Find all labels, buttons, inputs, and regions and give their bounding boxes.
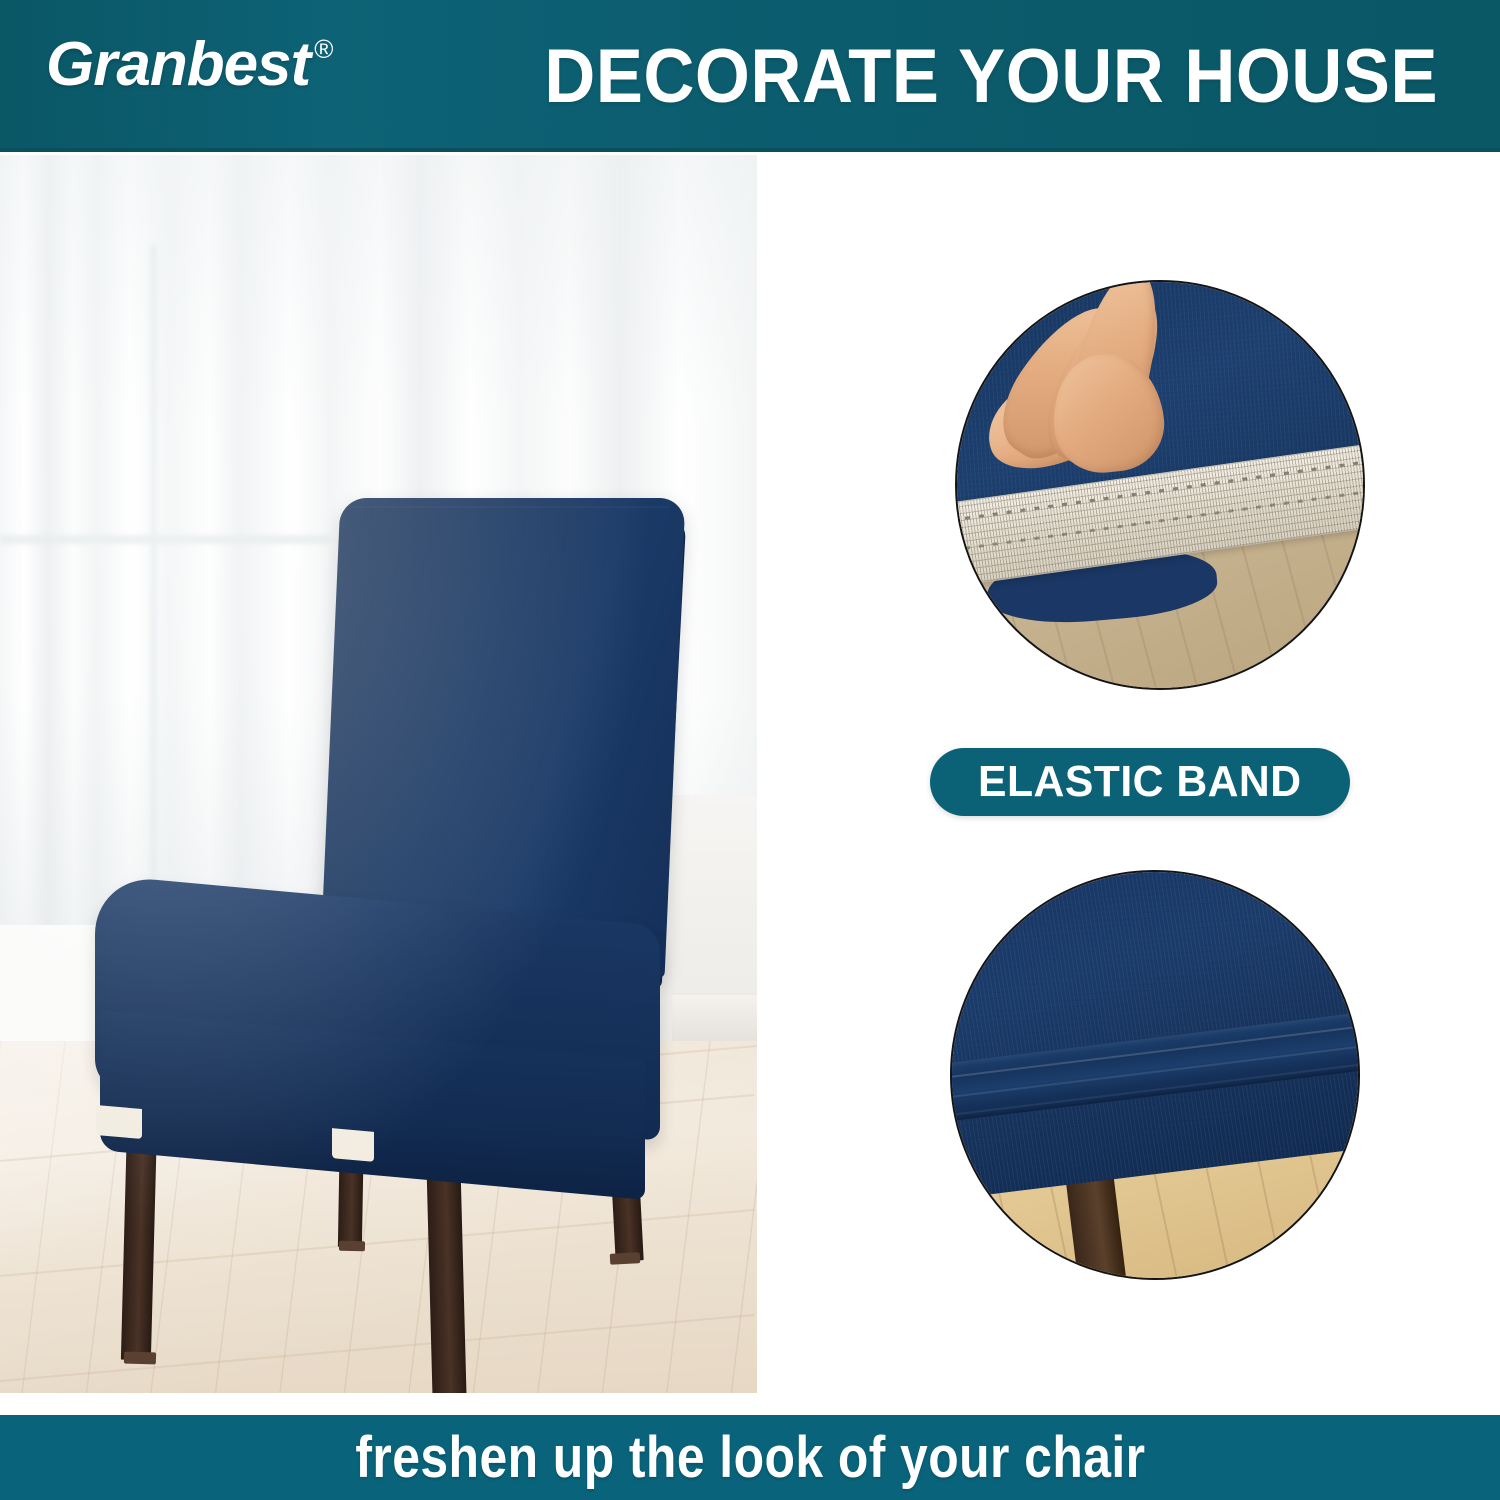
tagline-text: freshen up the look of your chair xyxy=(355,1424,1145,1491)
chair-leg-cap xyxy=(610,1252,641,1265)
chair-leg-cap xyxy=(124,1352,156,1365)
chair-leg-cap xyxy=(339,1241,365,1251)
headline-container: DECORATE YOUR HOUSE xyxy=(0,0,1500,152)
window-mullion-horizontal xyxy=(0,535,330,544)
status-badge-label: ELASTIC BAND xyxy=(978,757,1302,807)
top-banner: Granbest ® DECORATE YOUR HOUSE xyxy=(0,0,1500,152)
chair-leg-front-left xyxy=(121,1120,157,1361)
bottom-banner: freshen up the look of your chair xyxy=(0,1415,1500,1500)
detail-circle-elastic-band xyxy=(955,280,1365,690)
headline-text: DECORATE YOUR HOUSE xyxy=(544,33,1438,120)
backrest-top-seam xyxy=(350,506,670,508)
detail-circle-hem-stitching xyxy=(950,870,1360,1280)
skirt-leg-notch xyxy=(96,1105,142,1139)
skirt-leg-notch xyxy=(332,1128,374,1162)
hero-product-photo xyxy=(0,155,757,1393)
product-marketing-image: Granbest ® DECORATE YOUR HOUSE xyxy=(0,0,1500,1500)
status-badge-elastic-band: ELASTIC BAND xyxy=(930,748,1350,816)
window-mullion-vertical xyxy=(150,245,157,925)
